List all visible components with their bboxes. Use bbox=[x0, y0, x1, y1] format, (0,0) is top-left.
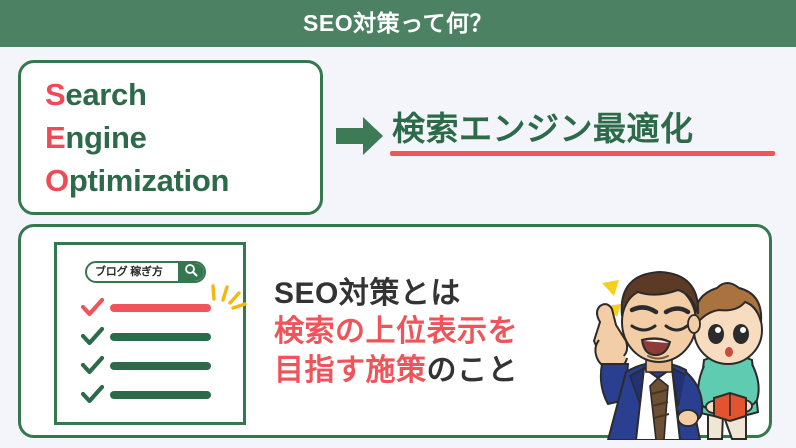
acronym-rest-search: earch bbox=[65, 77, 146, 112]
search-icon bbox=[184, 263, 198, 282]
acronym-card: Search Engine Optimization bbox=[18, 60, 323, 215]
headline-underline bbox=[390, 151, 775, 156]
acronym-rest-engine: ngine bbox=[65, 120, 146, 155]
result-row-1 bbox=[81, 293, 231, 322]
result-bar-2 bbox=[110, 333, 211, 341]
acronym-capital-s: S bbox=[45, 77, 65, 112]
result-bar-3 bbox=[110, 362, 211, 370]
explanation-line-3-red: 目指す施策 bbox=[274, 354, 427, 387]
acronym-line-engine: Engine bbox=[45, 118, 229, 159]
explanation-line-2: 検索の上位表示を bbox=[274, 313, 518, 351]
check-icon bbox=[81, 298, 105, 318]
acronym-line-search: Search bbox=[45, 75, 229, 116]
result-bar-4 bbox=[110, 391, 211, 399]
result-row-2 bbox=[81, 322, 231, 351]
result-bar-1 bbox=[110, 304, 211, 312]
arrow-right-icon bbox=[336, 116, 384, 156]
explanation-line-2-red: 検索の上位表示を bbox=[274, 315, 518, 348]
search-button[interactable] bbox=[178, 263, 204, 281]
headline-japanese: 検索エンジン最適化 bbox=[392, 108, 694, 149]
serp-illustration-frame: ブログ 稼ぎ方 bbox=[54, 242, 246, 425]
check-icon bbox=[81, 356, 105, 376]
acronym-line-optimization: Optimization bbox=[45, 161, 229, 202]
businessman-pointing-illustration bbox=[594, 272, 702, 440]
acronym-rest-optimization: ptimization bbox=[69, 163, 229, 198]
acronym-capital-o: O bbox=[45, 163, 69, 198]
acronym-list: Search Engine Optimization bbox=[45, 75, 229, 202]
explanation-line-1: SEO対策とは bbox=[274, 275, 518, 313]
header-band: SEO対策って何？ bbox=[0, 0, 796, 47]
acronym-capital-e: E bbox=[45, 120, 65, 155]
search-input-value: ブログ 稼ぎ方 bbox=[87, 267, 178, 278]
check-icon bbox=[81, 385, 105, 405]
explanation-line-3: 目指す施策のこと bbox=[274, 352, 518, 390]
page-title: SEO対策って何？ bbox=[303, 12, 493, 35]
sparkle-icon bbox=[208, 283, 248, 315]
explanation-line-3-dark: のこと bbox=[427, 354, 519, 387]
slide-canvas: SEO対策って何？ Search Engine Optimization 検索エ… bbox=[0, 0, 796, 448]
result-row-4 bbox=[81, 380, 231, 409]
characters-illustration bbox=[566, 268, 778, 440]
search-result-rows bbox=[81, 293, 231, 409]
result-row-3 bbox=[81, 351, 231, 380]
search-input[interactable]: ブログ 稼ぎ方 bbox=[85, 261, 206, 283]
explanation-text-block: SEO対策とは 検索の上位表示を 目指す施策のこと bbox=[274, 275, 518, 390]
check-icon bbox=[81, 327, 105, 347]
